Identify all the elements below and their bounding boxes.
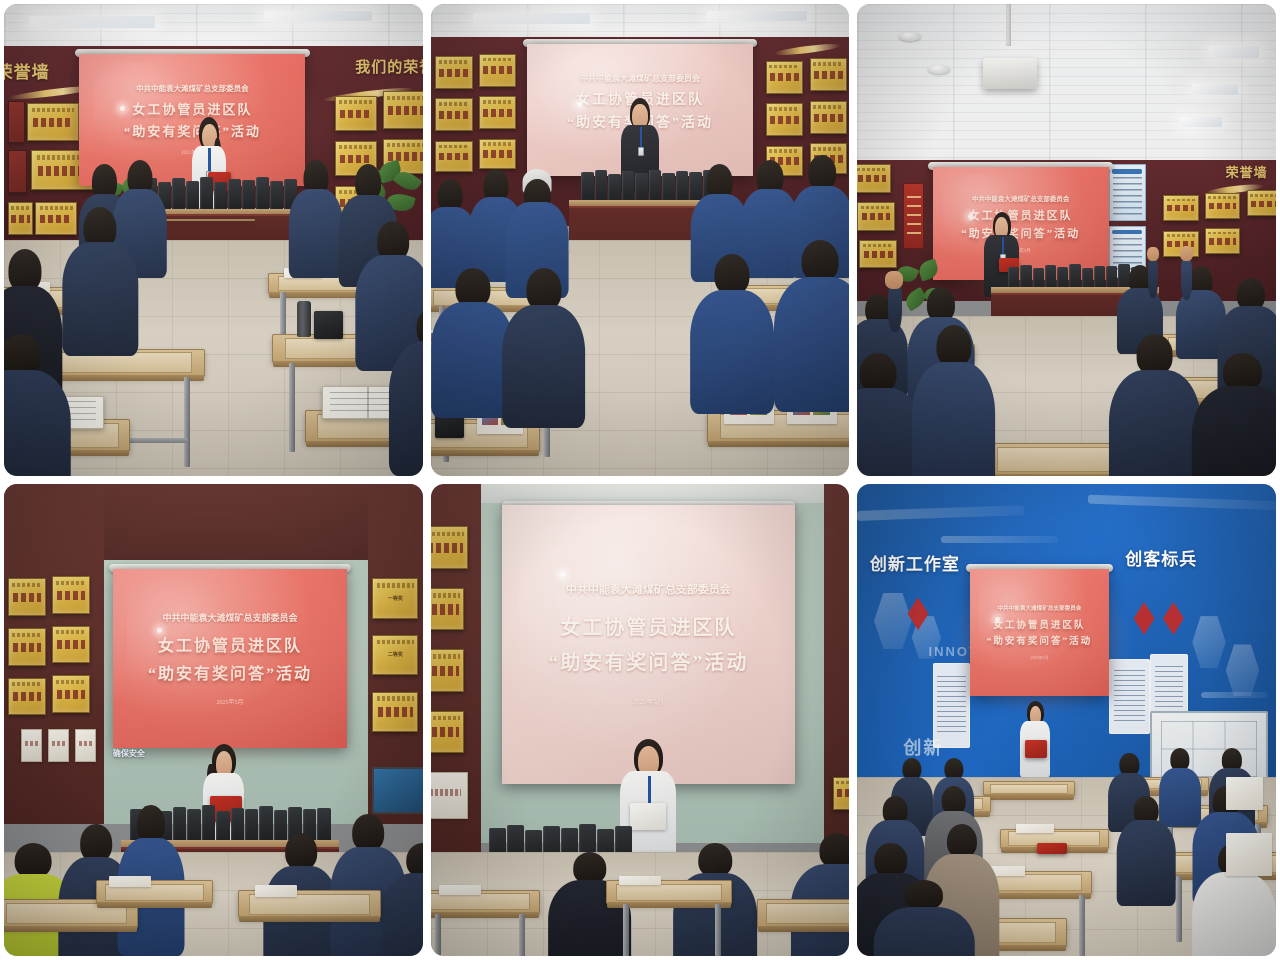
ceiling-light-icon — [1192, 84, 1238, 94]
maker-model-title: 创客标兵 — [1125, 545, 1197, 570]
slide-title-line-1: 女工协管员进区队 — [560, 611, 736, 640]
slide-organization-line: 中共中能袁大滩煤矿总支部委员会 — [972, 193, 1070, 203]
honor-wall-title: 荣誉墙 — [4, 58, 50, 83]
projection-screen: 中共中能袁大滩煤矿总支部委员会 女工协管员进区队 “助安有奖问答”活动 2025… — [970, 569, 1108, 696]
slide-title-line-1: 女工协管员进区队 — [158, 632, 302, 656]
slide-organization-line: 中共中能袁大滩煤矿总支部委员会 — [580, 73, 700, 84]
audience-member — [774, 240, 849, 400]
slide-date: 2025年5月 — [633, 697, 665, 707]
presentation-slide: 中共中能袁大滩煤矿总支部委员会 女工协管员进区队 “助安有奖问答”活动 2025… — [970, 569, 1108, 696]
ceiling-light-icon — [1209, 46, 1259, 57]
audience-member — [912, 325, 996, 476]
projection-screen: 中共中能袁大滩煤矿总支部委员会 女工协管员进区队 “助安有奖问答”活动 2025… — [113, 569, 347, 748]
photo-panel-1[interactable]: 荣誉墙 我们的荣誉 — [4, 4, 423, 476]
audience-member — [63, 207, 138, 349]
slide-organization-line: 中共中能袁大滩煤矿总支部委员会 — [997, 604, 1081, 612]
slide-title-line-1: 女工协管员进区队 — [993, 617, 1085, 631]
audience-member — [4, 334, 71, 476]
presentation-slide: 中共中能袁大滩煤矿总支部委员会 女工协管员进区队 “助安有奖问答”活动 2025… — [113, 569, 347, 748]
photo-panel-2[interactable]: 中共中能袁大滩煤矿总支部委员会 女工协管员进区队 “助安有奖问答”活动 2025… — [431, 4, 850, 476]
ceiling-light-icon — [707, 11, 807, 20]
audience-member — [874, 880, 974, 956]
computer-monitor — [372, 767, 422, 814]
presenter — [1016, 701, 1054, 777]
audience-member — [381, 843, 423, 956]
innovation-room-title: 创新工作室 — [870, 550, 960, 575]
award-label-second: 二等奖 — [373, 651, 417, 658]
slide-title-line-2: “助安有奖问答”活动 — [987, 633, 1093, 647]
ceiling-light-icon — [264, 11, 373, 21]
slide-title-line-2: “助安有奖问答”活动 — [148, 660, 312, 684]
slide-title-line-2: “助安有奖问答”活动 — [548, 646, 748, 675]
audience-member — [289, 160, 343, 273]
ceiling-projector — [983, 58, 1037, 89]
raised-hand — [1147, 247, 1159, 261]
raised-hand — [1180, 246, 1193, 261]
slide-date: 2025年5月 — [217, 697, 244, 706]
ceiling-light-icon — [1180, 117, 1222, 126]
photo-collage: 荣誉墙 我们的荣誉 — [0, 0, 1280, 960]
honor-wall-title: 荣誉墙 — [1226, 162, 1268, 181]
slide-organization-line: 中共中能袁大滩煤矿总支部委员会 — [136, 83, 249, 94]
slide-date: 2025年5月 — [1030, 655, 1048, 661]
audience-member — [1192, 353, 1276, 476]
ceiling-light-icon — [29, 16, 155, 28]
audience-member — [690, 254, 774, 405]
photo-panel-6[interactable]: 创新工作室 创客标兵 INNOVATION 创新 中共中能袁大滩煤矿总支部委员会 — [857, 484, 1276, 956]
photo-panel-3[interactable]: 荣誉墙 中共中能袁大滩煤矿总支部委员会 女工协管员进区队 — [857, 4, 1276, 476]
red-folder — [1025, 740, 1047, 758]
slide-organization-line: 中共中能袁大滩煤矿总支部委员会 — [566, 581, 731, 597]
ceiling-light-icon — [473, 13, 590, 23]
audience-member — [1109, 334, 1201, 476]
photo-panel-5[interactable]: 中共中能袁大滩煤矿总支部委员会 女工协管员进区队 “助安有奖问答”活动 2025… — [431, 484, 850, 956]
slide-organization-line: 中共中能袁大滩煤矿总支部委员会 — [163, 611, 298, 624]
award-label-first: 一等奖 — [373, 595, 417, 602]
honor-wall-title: 我们的荣誉 — [355, 56, 422, 77]
photo-panel-4[interactable]: 荣誉墙 — [4, 484, 423, 956]
raised-hand — [885, 271, 903, 289]
audience-member — [502, 268, 586, 419]
reading-paper — [630, 803, 666, 830]
podium-slogan: 确保安全 — [113, 748, 145, 759]
slide-title-line-1: 女工协管员进区队 — [132, 99, 252, 118]
audience-member — [1117, 796, 1176, 900]
audience-member — [791, 833, 850, 956]
audience-member — [389, 306, 423, 466]
